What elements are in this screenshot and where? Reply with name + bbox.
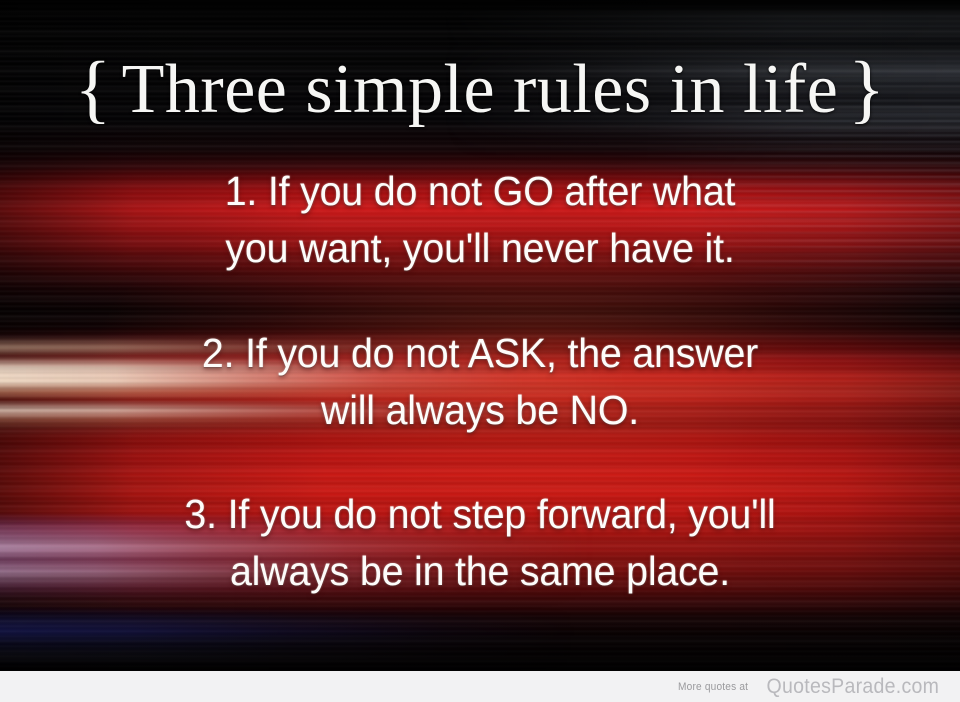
rule-2-line-2: will always be NO. xyxy=(19,382,941,439)
watermark-prefix: More quotes at xyxy=(678,681,748,693)
rule-3-line-1: 3. If you do not step forward, you'll xyxy=(19,486,941,543)
rule-2-line-1: 2. If you do not ASK, the answer xyxy=(19,325,941,382)
poster-content: {Three simple rules in life} 1. If you d… xyxy=(0,0,960,671)
quote-poster: {Three simple rules in life} 1. If you d… xyxy=(0,0,960,702)
page-title: {Three simple rules in life} xyxy=(0,48,960,131)
rule-item-2: 2. If you do not ASK, the answer will al… xyxy=(19,325,941,439)
page-title-text: Three simple rules in life xyxy=(122,51,839,128)
watermark-bar: More quotes at QuotesParade.com xyxy=(0,671,960,702)
open-brace: { xyxy=(65,47,122,131)
rule-1-line-1: 1. If you do not GO after what xyxy=(19,163,941,220)
close-brace: } xyxy=(838,47,895,131)
rule-item-1: 1. If you do not GO after what you want,… xyxy=(19,163,941,277)
rules-list: 1. If you do not GO after what you want,… xyxy=(0,163,960,600)
rule-3-line-2: always be in the same place. xyxy=(19,543,941,600)
rule-item-3: 3. If you do not step forward, you'll al… xyxy=(19,486,941,600)
watermark-brand[interactable]: QuotesParade.com xyxy=(767,675,940,699)
rule-1-line-2: you want, you'll never have it. xyxy=(19,220,941,277)
